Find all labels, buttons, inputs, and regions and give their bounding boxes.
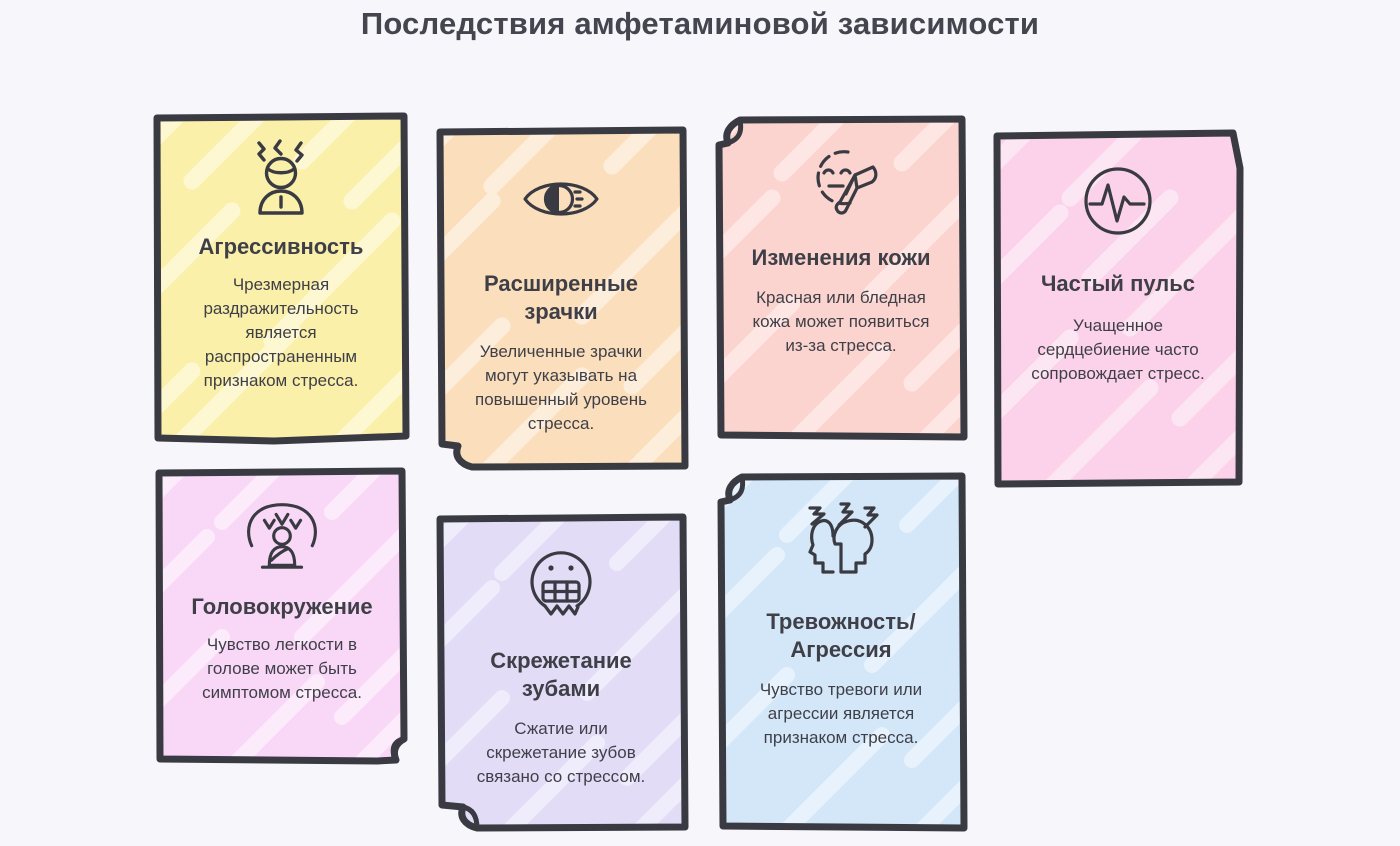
card-dilated-pupils[interactable]: Расширенные зрачки Увеличенные зрачки мо… [432,126,690,471]
card-dizziness[interactable]: Головокружение Чувство легкости в голове… [152,467,412,767]
card-aggressiveness[interactable]: Агрессивность Чрезмерная раздражительнос… [152,111,410,445]
card-teeth-grinding[interactable]: Скрежетание зубами Сжатие или скрежетани… [432,513,690,833]
card-skin-changes[interactable]: Изменения кожи Красная или бледная кожа … [712,113,970,442]
card-description: Красная или бледная кожа может появиться… [746,286,936,358]
card-description: Чувство тревоги или агрессии является пр… [751,678,931,750]
grinding-teeth-face-icon [518,537,604,623]
card-title: Агрессивность [199,233,364,261]
card-description: Учащенное сердцебиение часто сопровождае… [1028,314,1208,386]
card-content: Тревожность/ Агрессия Чувство тревоги ил… [712,470,970,750]
card-title: Частый пульс [1041,270,1195,298]
card-content: Скрежетание зубами Сжатие или скрежетани… [432,513,690,789]
card-content: Изменения кожи Красная или бледная кожа … [712,113,970,358]
card-description: Чувство легкости в голове может быть сим… [182,633,382,705]
card-title: Головокружение [191,593,372,621]
card-description: Сжатие или скрежетание зубов связано со … [466,717,656,789]
card-title: Расширенные зрачки [461,270,661,326]
card-content: Агрессивность Чрезмерная раздражительнос… [152,111,410,393]
card-content: Частый пульс Учащенное сердцебиение част… [990,128,1246,386]
card-content: Расширенные зрачки Увеличенные зрачки мо… [432,126,690,436]
two-heads-lightning-icon [798,498,884,584]
card-title: Изменения кожи [752,244,931,272]
dizzy-person-icon [239,491,325,577]
card-content: Головокружение Чувство легкости в голове… [152,467,412,705]
face-brush-icon [798,138,884,224]
angry-person-icon [238,133,324,219]
card-description: Увеличенные зрачки могут указывать на по… [466,340,656,436]
dilated-eye-icon [518,156,604,242]
card-title: Тревожность/ Агрессия [736,608,946,664]
card-anxiety-aggression[interactable]: Тревожность/ Агрессия Чувство тревоги ил… [712,470,970,833]
cards-board: Агрессивность Чрезмерная раздражительнос… [0,0,1400,846]
card-title: Скрежетание зубами [461,647,661,703]
pulse-circle-icon [1075,158,1161,244]
card-rapid-pulse[interactable]: Частый пульс Учащенное сердцебиение част… [990,128,1246,488]
card-description: Чрезмерная раздражительность является ра… [181,273,381,393]
